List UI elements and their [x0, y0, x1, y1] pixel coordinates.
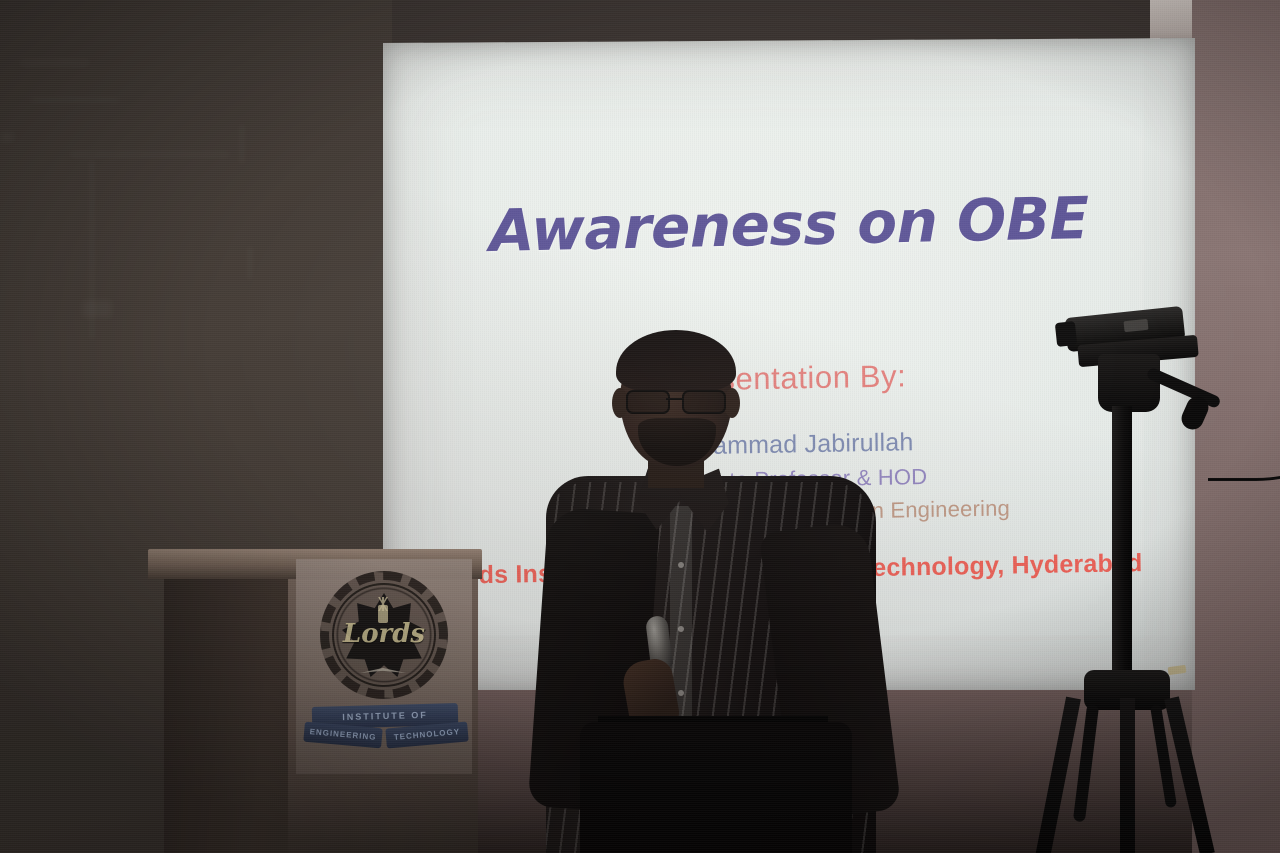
- glasses-lens-left: [626, 390, 670, 414]
- glasses-bridge: [666, 398, 684, 400]
- crest-wordmark: Lords: [338, 619, 430, 649]
- podium-logo-plaque: Lords INSTITUTE OF ENGINEERING TECHNOLOG…: [296, 559, 472, 774]
- presenter-trousers: [580, 722, 852, 853]
- glasses-lens-right: [682, 390, 726, 414]
- tripod-leg: [1036, 697, 1081, 853]
- shirt-button: [678, 690, 684, 696]
- lords-crest-icon: Lords: [320, 571, 448, 699]
- presenter-hair: [616, 330, 736, 392]
- tripod-leg-brace: [1073, 704, 1099, 823]
- eyeglasses-icon: [624, 390, 728, 410]
- tripod-leg: [1120, 698, 1135, 853]
- seminar-photo: Awareness on OBE Presentation By: Mohamm…: [0, 0, 1280, 853]
- tripod-tag: [1168, 665, 1187, 675]
- camera-tripod: [1040, 300, 1280, 853]
- camera-cable-lower: [1208, 418, 1280, 481]
- slide-title: Awareness on OBE: [383, 182, 1196, 268]
- podium: Lords INSTITUTE OF ENGINEERING TECHNOLOG…: [148, 549, 482, 853]
- tripod-centre-column: [1112, 406, 1132, 688]
- shirt-button: [678, 562, 684, 568]
- camera-lens-icon: [1055, 321, 1077, 347]
- presenter-figure: [520, 330, 920, 853]
- tripod-pan-head: [1098, 354, 1160, 412]
- shirt-button: [678, 626, 684, 632]
